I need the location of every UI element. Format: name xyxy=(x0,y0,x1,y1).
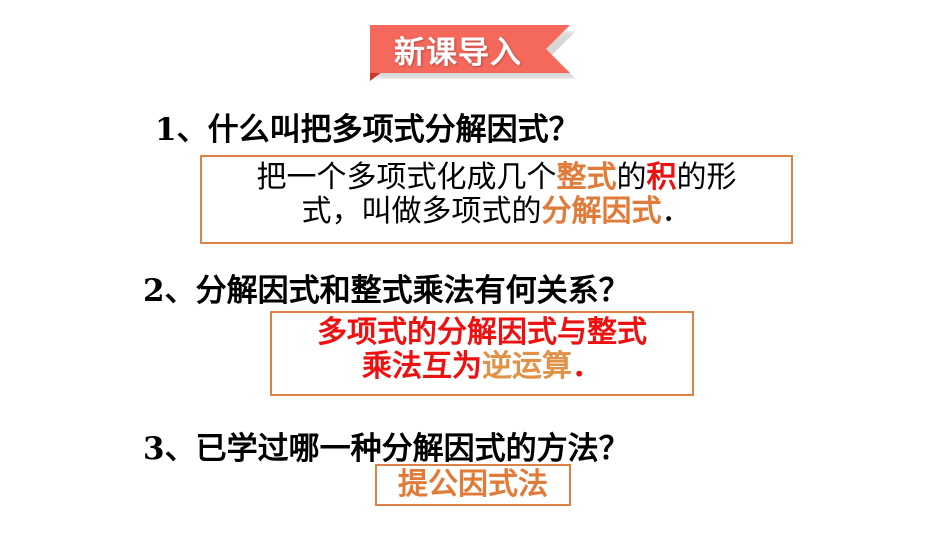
title-banner-label: 新课导入 xyxy=(370,25,546,73)
answer-1-text-a: 把一个多项式化成几个 xyxy=(257,160,557,195)
question-line-1: 1、什么叫把多项式分解因式？ xyxy=(155,104,580,149)
answer-box-1: 把一个多项式化成几个整式的积的形 式，叫做多项式的分解因式． xyxy=(200,155,793,244)
answer-1-line-1: 把一个多项式化成几个整式的积的形 xyxy=(202,161,791,195)
answer-3-text: 提公因式法 xyxy=(398,468,548,502)
answer-box-2: 多项式的分解因式与整式 乘法互为逆运算． xyxy=(270,311,694,396)
answer-1-line-2: 式，叫做多项式的分解因式． xyxy=(202,195,791,229)
answer-2-highlight-niyunsuan: 逆运算 xyxy=(482,349,572,384)
answer-box-3: 提公因式法 xyxy=(375,464,571,506)
answer-1-highlight-ji: 积 xyxy=(647,160,677,195)
answer-1-highlight-zhengshi: 整式 xyxy=(557,160,617,195)
question-line-2: 2、分解因式和整式乘法有何关系？ xyxy=(143,265,630,310)
answer-1-period: ． xyxy=(662,194,692,229)
answer-1-text-c: 的形 xyxy=(677,160,737,195)
answer-2-period: ． xyxy=(572,349,602,384)
answer-1-highlight-fenjieyinshi: 分解因式 xyxy=(542,194,662,229)
answer-2-text-a: 乘法互为 xyxy=(362,349,482,384)
answer-2-line-1: 多项式的分解因式与整式 xyxy=(272,316,692,350)
question-line-3: 3、已学过哪一种分解因式的方法？ xyxy=(143,423,630,468)
answer-2-line-2: 乘法互为逆运算． xyxy=(272,350,692,384)
answer-1-text-d: 式，叫做多项式的 xyxy=(302,194,542,229)
answer-1-text-b: 的 xyxy=(617,160,647,195)
title-banner: 新课导入 xyxy=(370,25,570,73)
